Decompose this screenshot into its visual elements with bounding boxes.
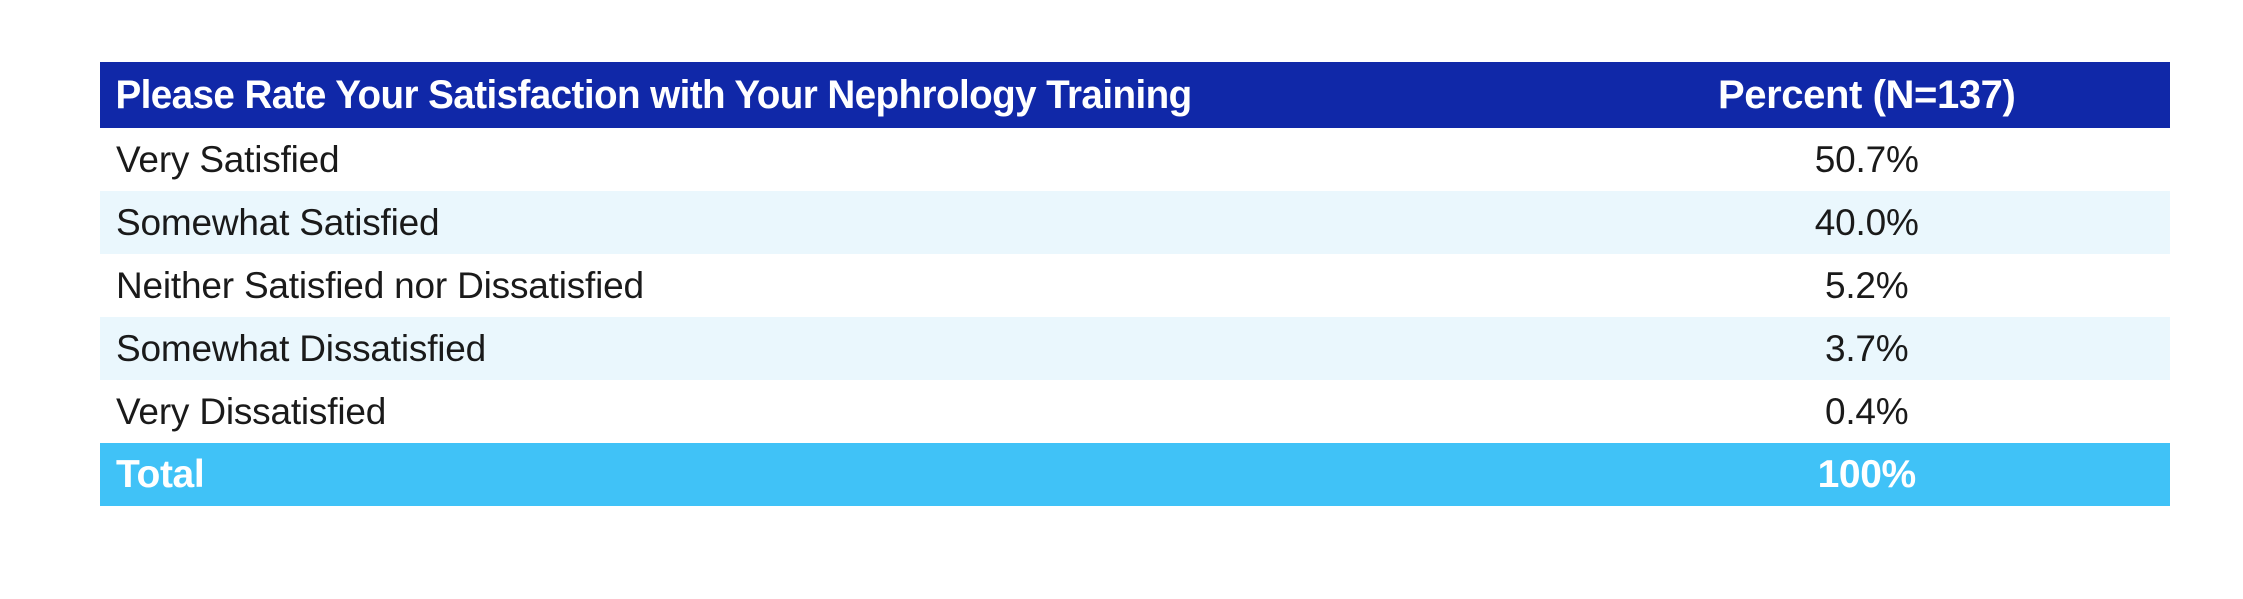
row-label-very-dissatisfied: Very Dissatisfied	[100, 380, 1621, 443]
row-label-very-satisfied: Very Satisfied	[100, 128, 1621, 191]
row-label-somewhat-satisfied: Somewhat Satisfied	[100, 191, 1621, 254]
table-total-row: Total 100%	[100, 443, 2170, 506]
table-body: Very Satisfied 50.7% Somewhat Satisfied …	[100, 128, 2170, 506]
total-label: Total	[100, 443, 1621, 506]
table-row: Somewhat Satisfied 40.0%	[100, 191, 2170, 254]
table-page: Please Rate Your Satisfaction with Your …	[0, 0, 2243, 599]
row-label-somewhat-dissatisfied: Somewhat Dissatisfied	[100, 317, 1621, 380]
column-header-percent: Percent (N=137)	[1621, 62, 2170, 128]
table-row: Very Dissatisfied 0.4%	[100, 380, 2170, 443]
table-header-row: Please Rate Your Satisfaction with Your …	[100, 62, 2170, 128]
table-row: Very Satisfied 50.7%	[100, 128, 2170, 191]
survey-table-container: Please Rate Your Satisfaction with Your …	[100, 62, 2170, 506]
row-value-very-satisfied: 50.7%	[1621, 128, 2170, 191]
row-label-neither-satisfied-nor-dissatisfied: Neither Satisfied nor Dissatisfied	[100, 254, 1621, 317]
row-value-somewhat-dissatisfied: 3.7%	[1621, 317, 2170, 380]
row-value-neither-satisfied-nor-dissatisfied: 5.2%	[1621, 254, 2170, 317]
total-value: 100%	[1621, 443, 2170, 506]
row-value-very-dissatisfied: 0.4%	[1621, 380, 2170, 443]
table-row: Neither Satisfied nor Dissatisfied 5.2%	[100, 254, 2170, 317]
table-row: Somewhat Dissatisfied 3.7%	[100, 317, 2170, 380]
row-value-somewhat-satisfied: 40.0%	[1621, 191, 2170, 254]
column-header-question: Please Rate Your Satisfaction with Your …	[100, 62, 1568, 128]
table-header: Please Rate Your Satisfaction with Your …	[100, 62, 2170, 128]
satisfaction-table: Please Rate Your Satisfaction with Your …	[100, 62, 2170, 506]
